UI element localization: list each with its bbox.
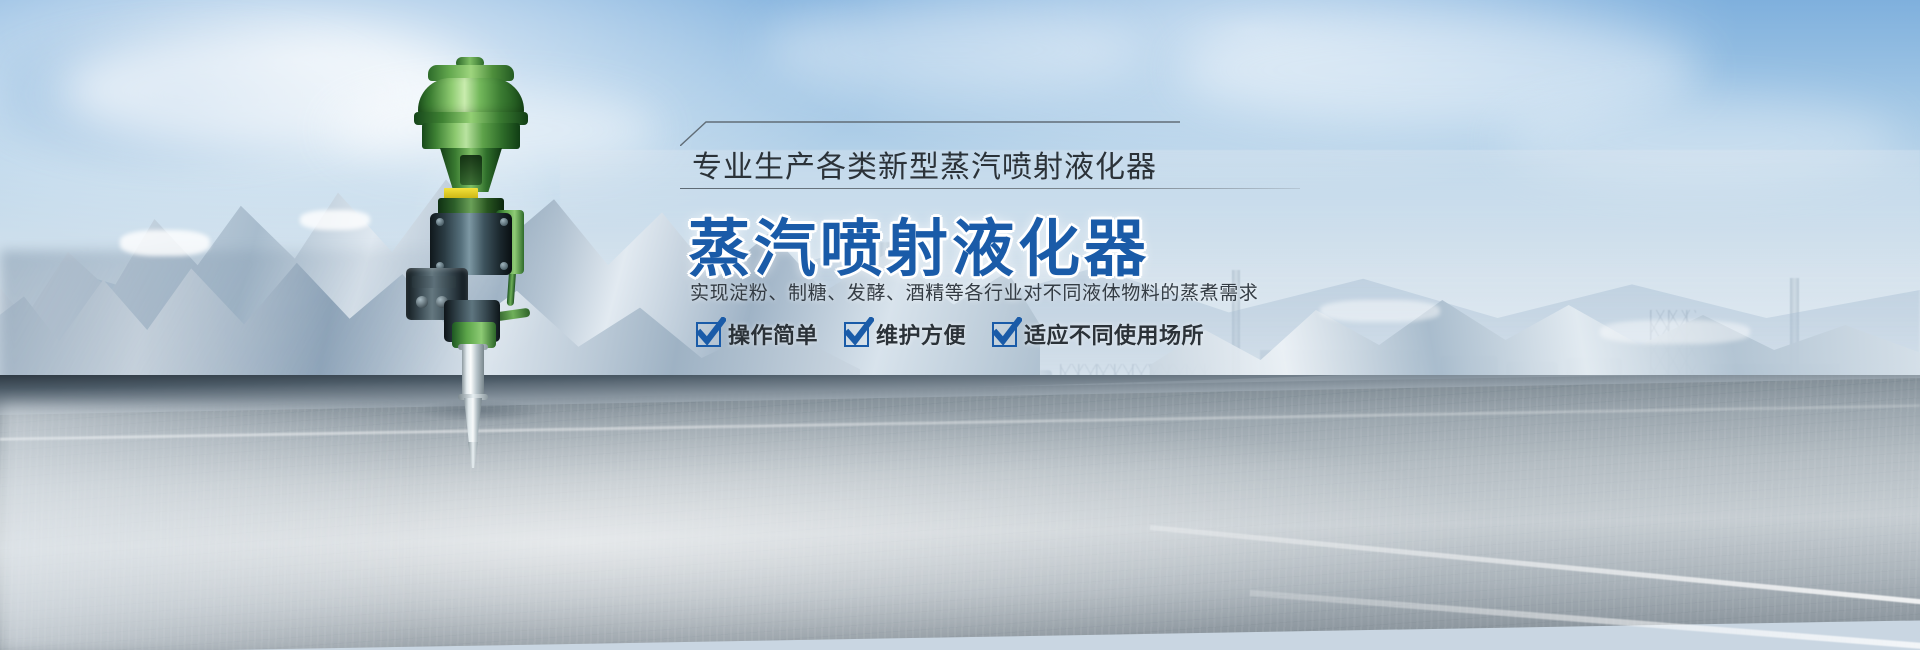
check-icon [992,322,1017,347]
positioner-knob [416,296,428,308]
valve-bolt [500,262,508,270]
actuator-body [422,123,520,149]
check-icon [696,322,721,347]
feature-item: 维护方便 [844,318,966,350]
feature-label: 维护方便 [876,318,966,350]
hero-banner: 专业生产各类新型蒸汽喷射液化器 蒸汽喷射液化器 实现淀粉、制糖、发酵、酒精等各行… [0,0,1920,650]
road-motion-blur [0,405,420,650]
feature-item: 操作简单 [696,318,818,350]
check-icon [844,322,869,347]
positioner-feedback-arm [496,308,531,322]
banner-description: 实现淀粉、制糖、发酵、酒精等各行业对不同液体物料的蒸煮需求 [690,278,1258,305]
feature-item: 适应不同使用场所 [992,318,1204,350]
valve-bolt [500,218,508,226]
snow-patch [300,210,370,230]
snow-patch [120,230,210,256]
snow-patch [1600,320,1750,344]
feature-label: 操作简单 [728,318,818,350]
yoke-window [460,155,482,185]
divider-rule [680,188,1300,189]
highway-road [0,375,1920,650]
feature-list: 操作简单 维护方便 适应不同使用场所 [696,318,1204,350]
banner-title: 蒸汽喷射液化器 [688,198,1150,288]
positioner-faceplate [412,276,456,288]
banner-subtitle: 专业生产各类新型蒸汽喷射液化器 [692,142,1157,186]
cloud [760,5,1140,95]
snow-patch [1320,300,1440,322]
steam-injection-pipe [462,344,484,400]
valve-bolt [436,218,444,226]
product-image-control-valve [400,60,550,430]
feature-label: 适应不同使用场所 [1024,318,1204,350]
